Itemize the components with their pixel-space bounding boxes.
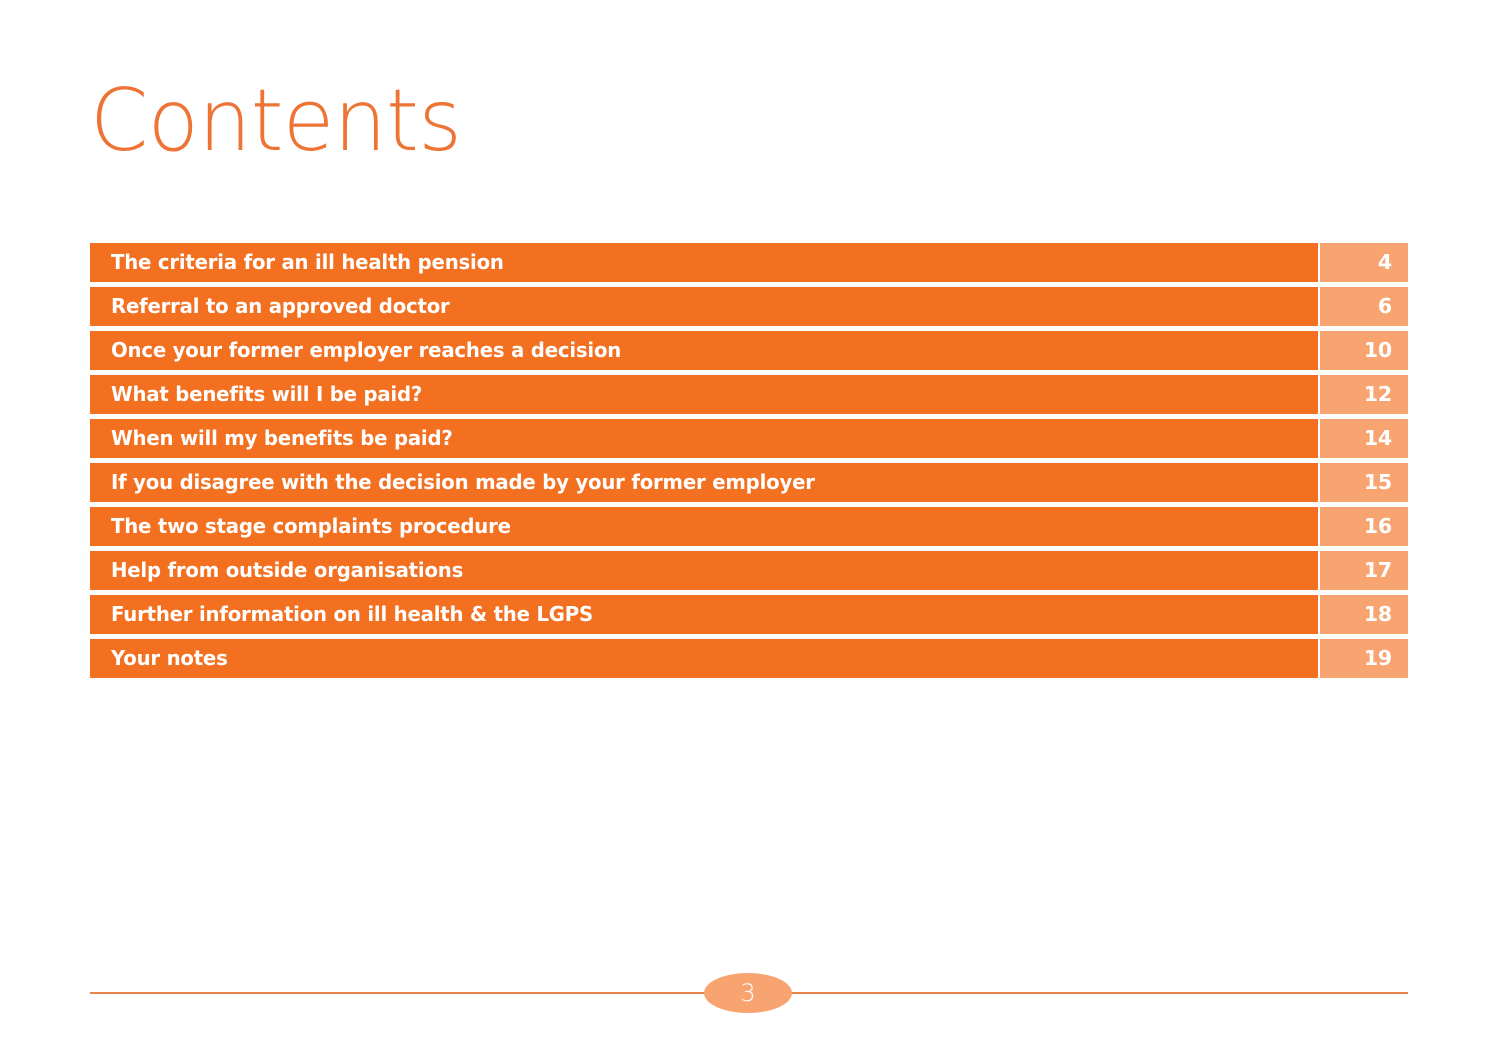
toc-entry-title-cell[interactable]: What benefits will I be paid? (90, 375, 1318, 414)
toc-entry-title-cell[interactable]: Your notes (90, 639, 1318, 678)
toc-row[interactable]: Help from outside organisations 17 (90, 551, 1408, 590)
toc-entry-title: If you disagree with the decision made b… (111, 472, 815, 493)
toc-row[interactable]: When will my benefits be paid? 14 (90, 419, 1408, 458)
toc-entry-title-cell[interactable]: The criteria for an ill health pension (90, 243, 1318, 282)
toc-entry-page: 15 (1364, 472, 1392, 493)
toc-entry-title: Your notes (111, 648, 228, 669)
toc-entry-page: 12 (1364, 384, 1392, 405)
toc-row[interactable]: Once your former employer reaches a deci… (90, 331, 1408, 370)
toc-entry-title: The two stage complaints procedure (111, 516, 511, 537)
toc-row[interactable]: If you disagree with the decision made b… (90, 463, 1408, 502)
table-of-contents: The criteria for an ill health pension 4… (90, 243, 1408, 678)
toc-entry-title: The criteria for an ill health pension (111, 252, 504, 273)
toc-entry-page: 16 (1364, 516, 1392, 537)
page-number: 3 (740, 981, 755, 1005)
page-footer: 3 (90, 973, 1408, 1015)
toc-entry-page-cell[interactable]: 4 (1320, 243, 1408, 282)
document-page: Contents The criteria for an ill health … (0, 0, 1497, 1055)
toc-row[interactable]: The two stage complaints procedure 16 (90, 507, 1408, 546)
toc-entry-page: 18 (1364, 604, 1392, 625)
toc-entry-title-cell[interactable]: Once your former employer reaches a deci… (90, 331, 1318, 370)
toc-row[interactable]: Referral to an approved doctor 6 (90, 287, 1408, 326)
toc-row[interactable]: The criteria for an ill health pension 4 (90, 243, 1408, 282)
toc-entry-page-cell[interactable]: 15 (1320, 463, 1408, 502)
page-number-badge: 3 (704, 973, 792, 1013)
toc-entry-title: When will my benefits be paid? (111, 428, 453, 449)
toc-entry-title: Referral to an approved doctor (111, 296, 450, 317)
toc-entry-title: Further information on ill health & the … (111, 604, 593, 625)
toc-entry-page: 14 (1364, 428, 1392, 449)
toc-row[interactable]: Your notes 19 (90, 639, 1408, 678)
toc-entry-title-cell[interactable]: The two stage complaints procedure (90, 507, 1318, 546)
toc-entry-page-cell[interactable]: 12 (1320, 375, 1408, 414)
toc-entry-page: 10 (1364, 340, 1392, 361)
toc-entry-page-cell[interactable]: 16 (1320, 507, 1408, 546)
toc-row[interactable]: Further information on ill health & the … (90, 595, 1408, 634)
page-title: Contents (90, 78, 461, 164)
toc-entry-page-cell[interactable]: 17 (1320, 551, 1408, 590)
toc-entry-page: 4 (1378, 252, 1392, 273)
toc-entry-title-cell[interactable]: Help from outside organisations (90, 551, 1318, 590)
toc-entry-page-cell[interactable]: 10 (1320, 331, 1408, 370)
toc-entry-page: 6 (1378, 296, 1392, 317)
toc-entry-page-cell[interactable]: 19 (1320, 639, 1408, 678)
toc-entry-title-cell[interactable]: Further information on ill health & the … (90, 595, 1318, 634)
toc-entry-page: 19 (1364, 648, 1392, 669)
toc-entry-page-cell[interactable]: 6 (1320, 287, 1408, 326)
toc-entry-title-cell[interactable]: If you disagree with the decision made b… (90, 463, 1318, 502)
toc-entry-page: 17 (1364, 560, 1392, 581)
toc-entry-page-cell[interactable]: 14 (1320, 419, 1408, 458)
toc-row[interactable]: What benefits will I be paid? 12 (90, 375, 1408, 414)
toc-entry-title: Once your former employer reaches a deci… (111, 340, 621, 361)
toc-entry-title: What benefits will I be paid? (111, 384, 422, 405)
toc-entry-page-cell[interactable]: 18 (1320, 595, 1408, 634)
toc-entry-title-cell[interactable]: When will my benefits be paid? (90, 419, 1318, 458)
toc-entry-title-cell[interactable]: Referral to an approved doctor (90, 287, 1318, 326)
toc-entry-title: Help from outside organisations (111, 560, 463, 581)
